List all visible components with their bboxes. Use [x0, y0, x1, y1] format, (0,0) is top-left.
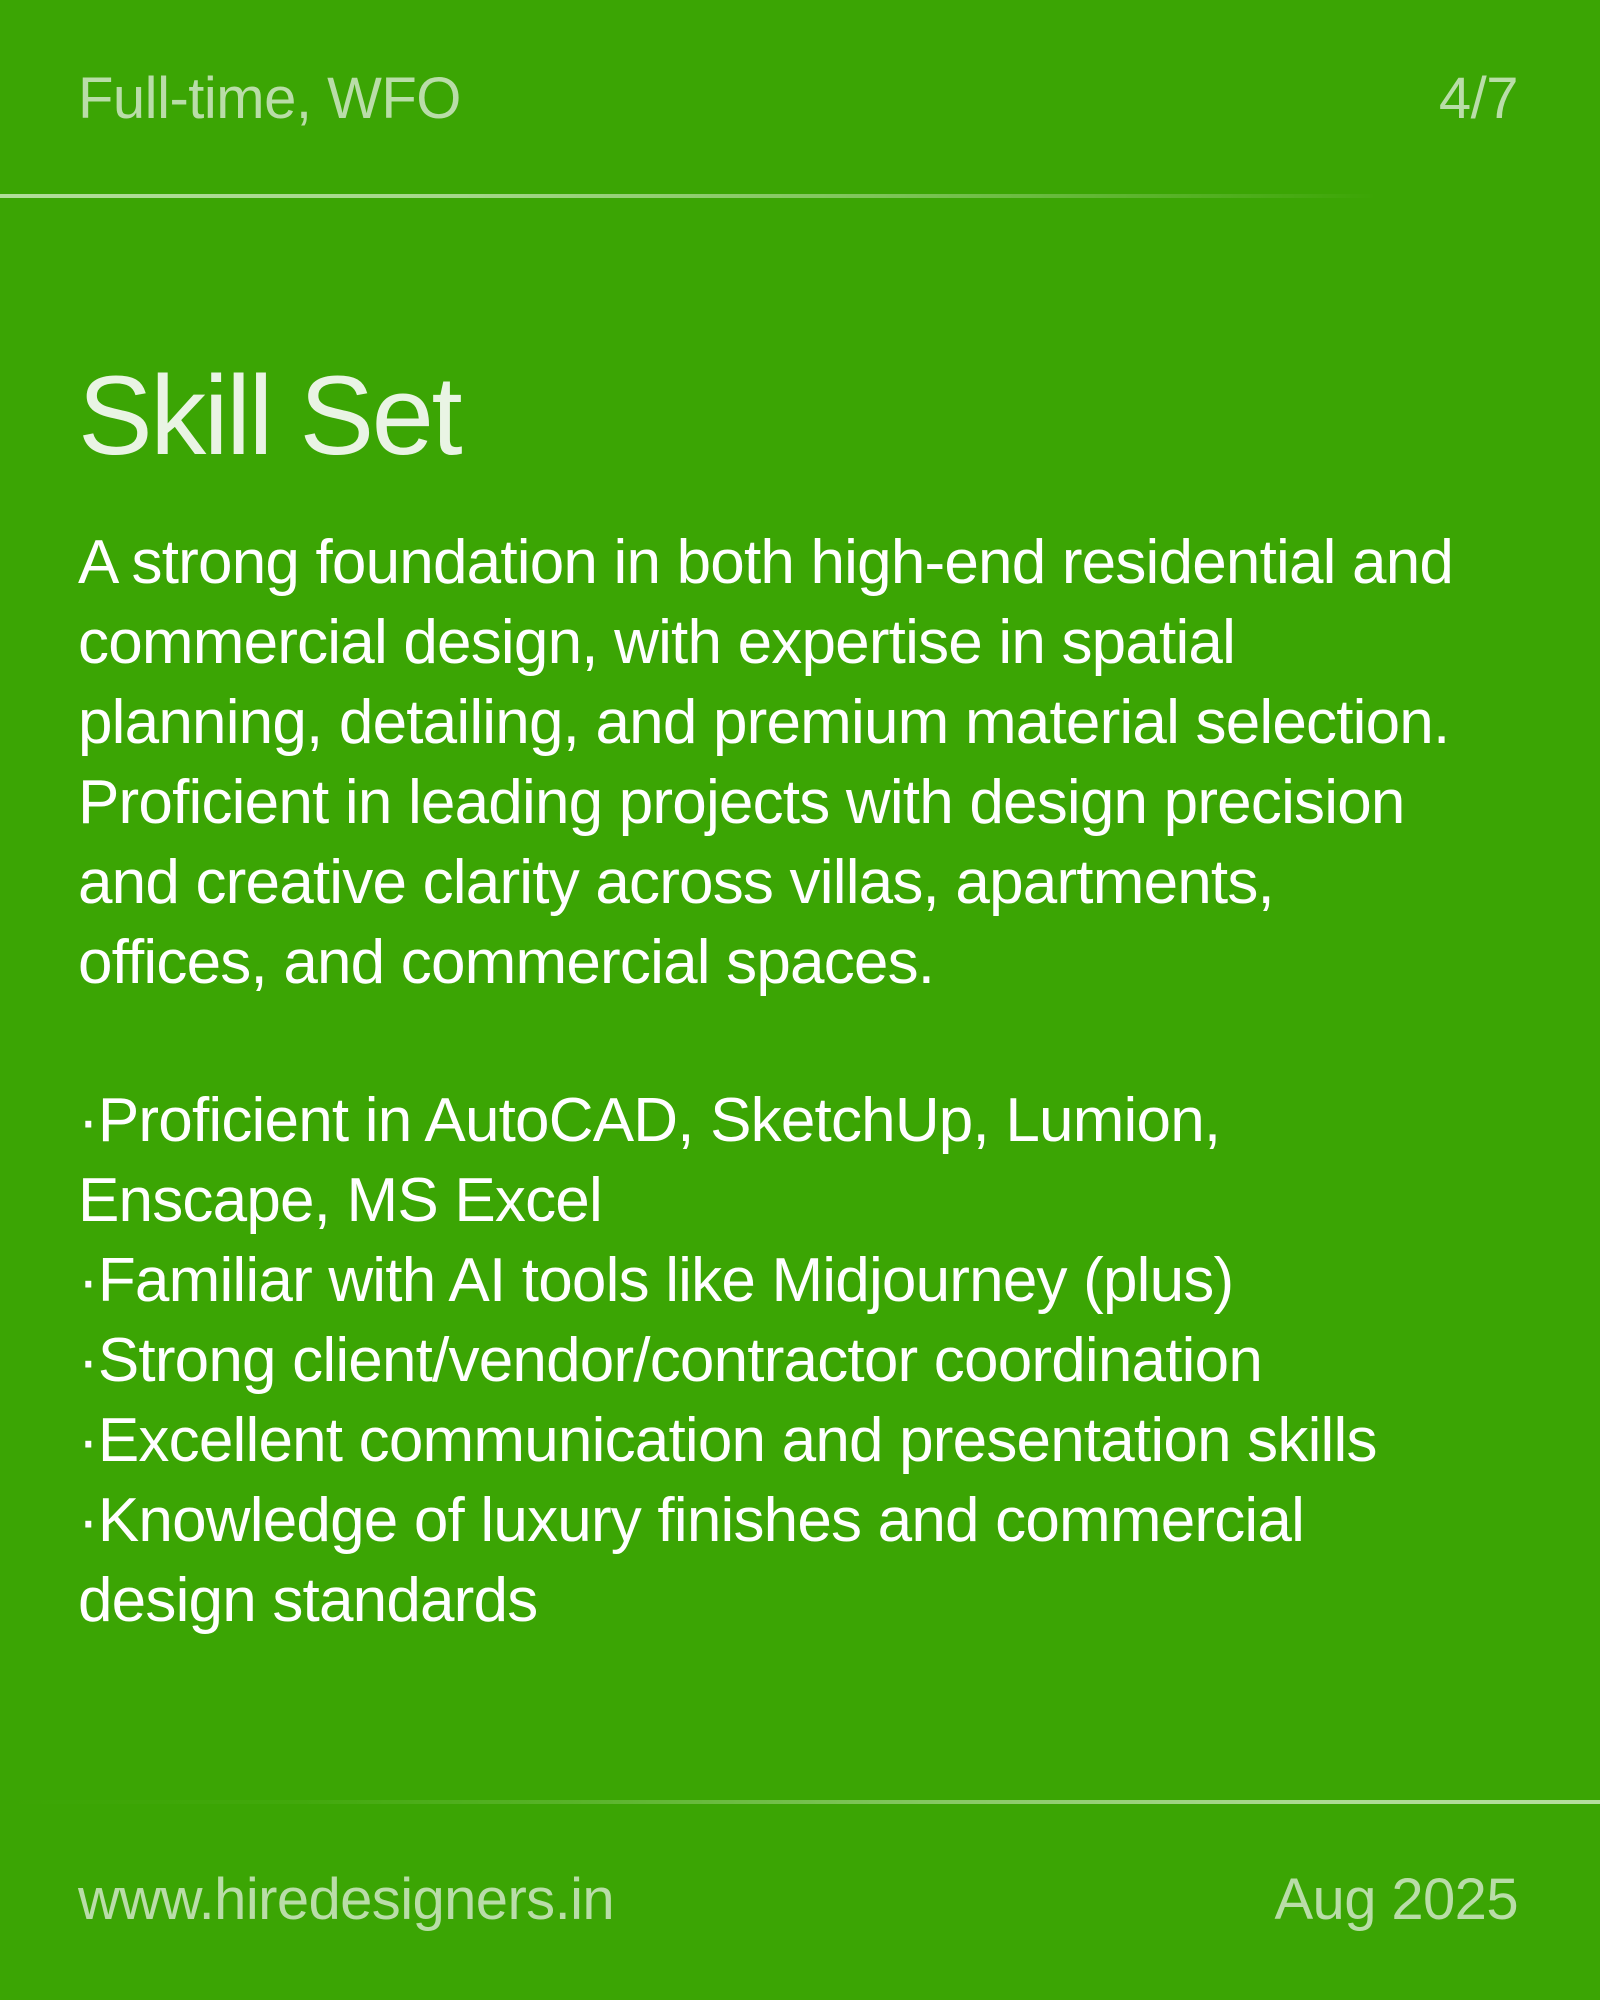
slide-header: Full-time, WFO 4/7: [0, 0, 1600, 198]
intro-paragraph: A strong foundation in both high-end res…: [78, 523, 1478, 1003]
body-content: A strong foundation in both high-end res…: [78, 523, 1478, 1641]
list-item: ·Knowledge of luxury finishes and commer…: [78, 1481, 1478, 1641]
slide-main: Skill Set A strong foundation in both hi…: [0, 198, 1600, 1800]
list-item: ·Familiar with AI tools like Midjourney …: [78, 1241, 1478, 1321]
list-item-text: Excellent communication and presentation…: [98, 1406, 1377, 1475]
list-item: ·Strong client/vendor/contractor coordin…: [78, 1321, 1478, 1401]
page-indicator: 4/7: [1439, 70, 1522, 128]
paragraph-bullet-spacer: [78, 1003, 1478, 1081]
date-label: Aug 2025: [1274, 1871, 1522, 1929]
bullet-marker-icon: ·: [78, 1326, 98, 1395]
bullet-marker-icon: ·: [78, 1486, 98, 1555]
slide-canvas: Full-time, WFO 4/7 Skill Set A strong fo…: [0, 0, 1600, 2000]
list-item: ·Excellent communication and presentatio…: [78, 1401, 1478, 1481]
footer-divider: [0, 1800, 1600, 1804]
skills-list: ·Proficient in AutoCAD, SketchUp, Lumion…: [78, 1081, 1478, 1641]
bullet-marker-icon: ·: [78, 1246, 98, 1315]
list-item-text: Strong client/vendor/contractor coordina…: [98, 1326, 1262, 1395]
list-item-text: Familiar with AI tools like Midjourney (…: [98, 1246, 1234, 1315]
slide-footer: www.hiredesigners.in Aug 2025: [0, 1800, 1600, 2000]
page-title: Skill Set: [78, 360, 460, 472]
employment-type-label: Full-time, WFO: [78, 70, 461, 128]
bullet-marker-icon: ·: [78, 1086, 98, 1155]
list-item-text: Knowledge of luxury finishes and commerc…: [78, 1486, 1304, 1635]
list-item-text: Proficient in AutoCAD, SketchUp, Lumion,…: [78, 1086, 1220, 1235]
bullet-marker-icon: ·: [78, 1406, 98, 1475]
website-link[interactable]: www.hiredesigners.in: [78, 1871, 614, 1929]
list-item: ·Proficient in AutoCAD, SketchUp, Lumion…: [78, 1081, 1478, 1241]
